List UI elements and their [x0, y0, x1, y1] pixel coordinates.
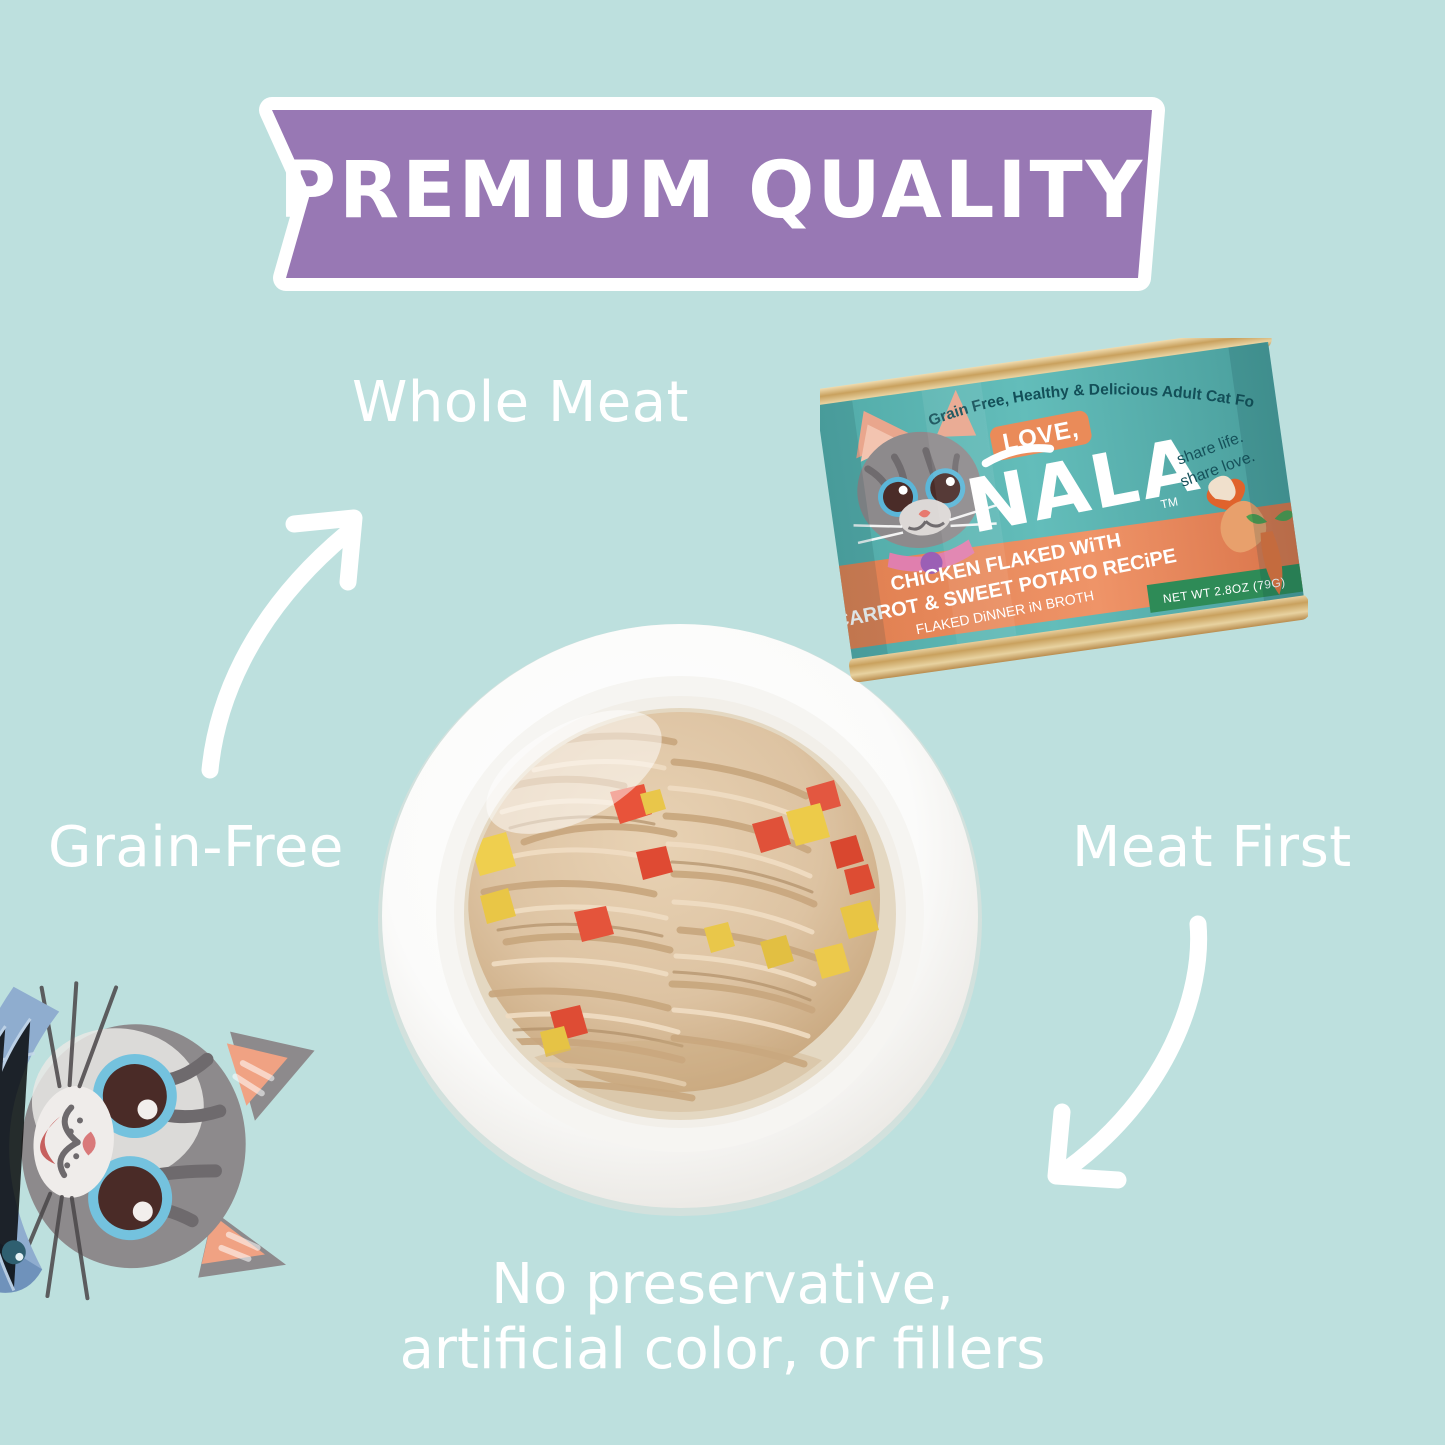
banner-title: PREMiUM QUALiTY — [258, 96, 1166, 292]
feature-label-grain-free: Grain-Free — [48, 815, 344, 880]
arrow-curved-up-icon — [168, 478, 404, 784]
can-body: Grain Free, Healthy & Delicious Adult Ca… — [820, 338, 1308, 685]
feature-label-meat-first: Meat First — [1072, 815, 1352, 880]
nala-cat-mascot — [0, 928, 318, 1338]
promo-graphic: PREMiUM QUALiTY Whole Meat Grain-Free Me… — [0, 0, 1445, 1445]
product-can: Grain Free, Healthy & Delicious Adult Ca… — [820, 338, 1308, 690]
arrow-curved-down-icon — [1018, 888, 1274, 1204]
feature-label-whole-meat: Whole Meat — [352, 370, 689, 435]
premium-quality-banner: PREMiUM QUALiTY — [258, 96, 1166, 292]
food-plate — [374, 612, 986, 1224]
